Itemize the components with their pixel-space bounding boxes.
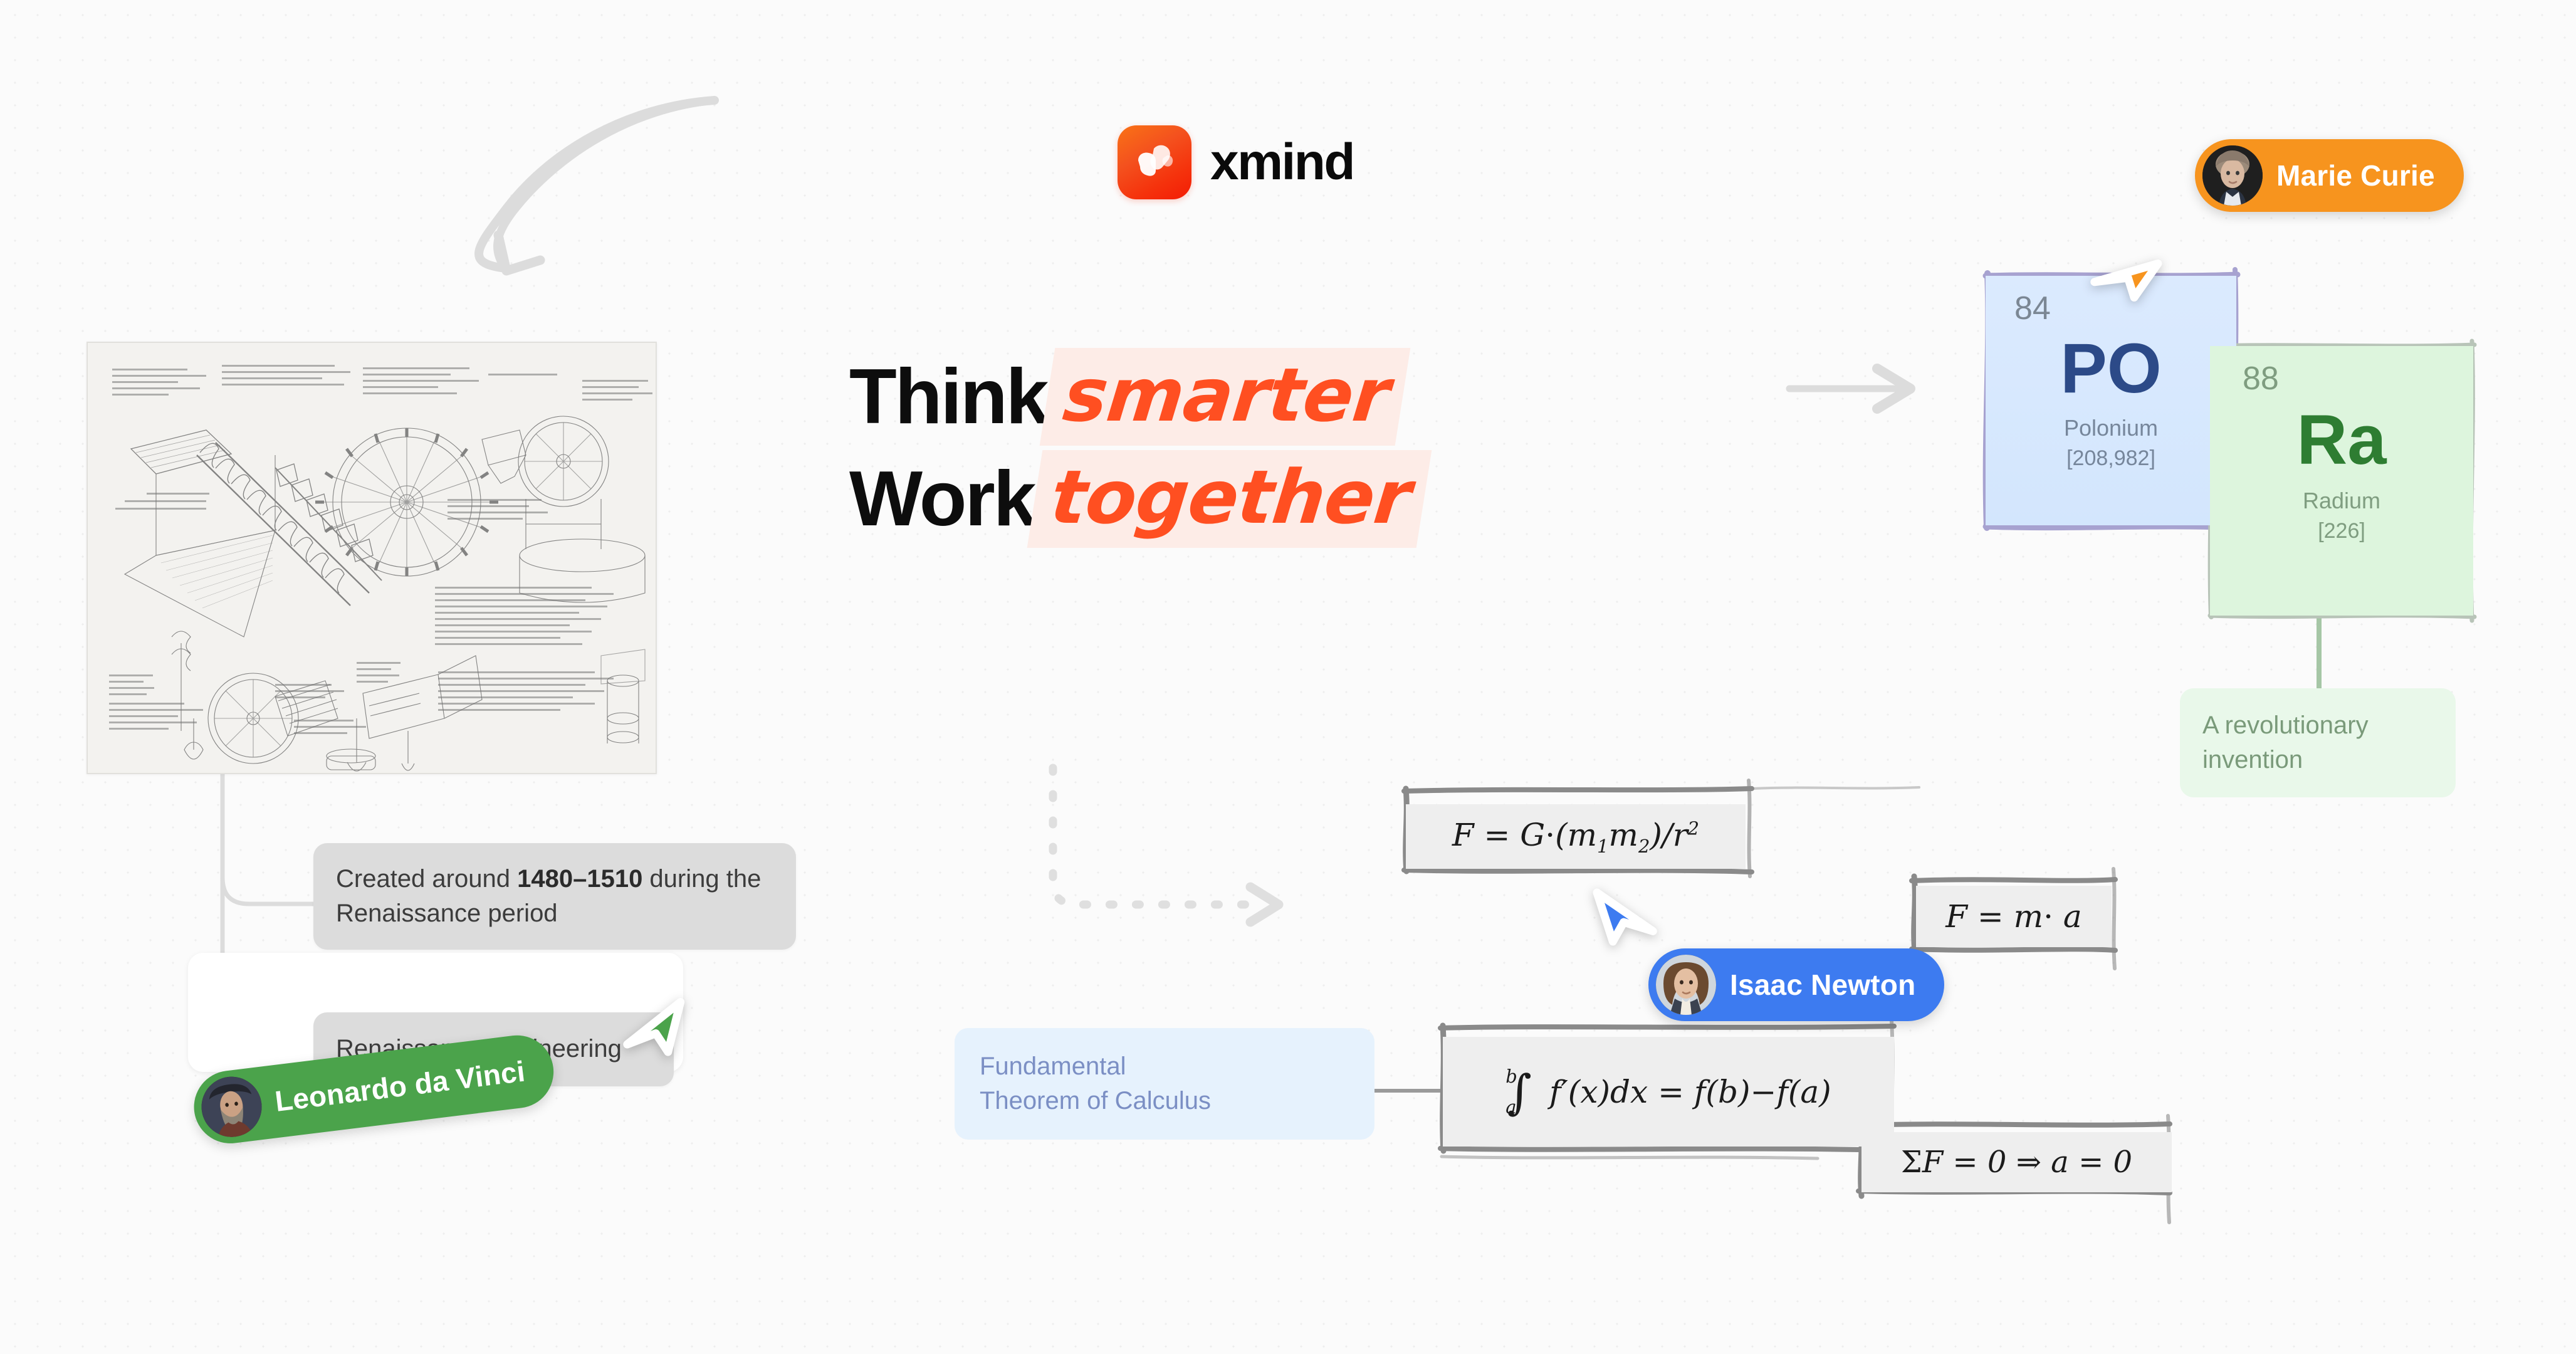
note-text-line-2: Theorem of Calculus — [980, 1084, 1349, 1118]
note-card-fundamental-theorem[interactable]: Fundamental Theorem of Calculus — [955, 1028, 1374, 1140]
element-name: Polonium — [1986, 415, 2236, 441]
note-text-line-1: Fundamental — [980, 1049, 1349, 1084]
headline-line-1: Think smarter — [849, 348, 1423, 445]
headline-word-together: together — [1027, 450, 1431, 548]
formula-static-equilibrium[interactable]: ΣF = 0 ⇒ a = 0 — [1861, 1132, 2172, 1192]
element-atomic-mass: [208,982] — [1986, 446, 2236, 471]
brand-name: xmind — [1210, 137, 1354, 188]
page-title: Think smarter Work together — [849, 348, 1423, 547]
collaborator-name: Leonardo da Vinci — [273, 1054, 527, 1118]
avatar — [1656, 955, 1716, 1015]
brand-logo[interactable]: xmind — [1118, 125, 1354, 199]
element-card-radium[interactable]: 88 Ra Radium [226] — [2210, 346, 2473, 616]
avatar — [2202, 145, 2263, 206]
element-symbol: Ra — [2210, 405, 2473, 475]
headline-line-2: Work together — [849, 450, 1423, 547]
formula-fundamental-theorem[interactable]: ba ∫ f′(x)dx = f(b)−f(a) — [1443, 1037, 1894, 1147]
avatar — [198, 1073, 265, 1140]
element-symbol: PO — [1986, 333, 2236, 404]
cursor-pointer-marie-curie — [2084, 239, 2165, 324]
note-text-prefix: Created around — [336, 865, 517, 893]
note-card-created-around[interactable]: Created around 1480–1510 during the Rena… — [313, 843, 796, 950]
canvas: xmind Think smarter Work together — [0, 0, 2576, 1354]
note-text-date-range: 1480–1510 — [517, 865, 642, 893]
collaborator-badge-isaac-newton[interactable]: Isaac Newton — [1648, 948, 1944, 1021]
headline-word-work: Work — [849, 460, 1035, 538]
formula-newton-second-law[interactable]: F = m· a — [1916, 886, 2112, 947]
xmind-logo-icon — [1118, 125, 1191, 199]
element-atomic-number: 88 — [2210, 362, 2473, 395]
collaborator-badge-marie-curie[interactable]: Marie Curie — [2195, 139, 2464, 212]
davinci-sketch-image[interactable] — [86, 342, 657, 774]
note-text: A revolutionary invention — [2202, 711, 2369, 774]
arrow-headline-to-polonium — [1789, 369, 1910, 409]
dashed-arrow-to-formulas — [1053, 768, 1279, 922]
element-atomic-mass: [226] — [2210, 519, 2473, 543]
collaborator-name: Marie Curie — [2276, 159, 2435, 192]
element-name: Radium — [2210, 488, 2473, 514]
curved-arrow-to-sketch — [479, 100, 715, 271]
collaborator-name: Isaac Newton — [1730, 968, 1915, 1002]
cursor-pointer-leonardo-da-vinci — [614, 987, 696, 1072]
note-card-revolutionary-invention[interactable]: A revolutionary invention — [2180, 688, 2456, 797]
formula-gravitation[interactable]: F = G·(m1m2)/r2 — [1406, 804, 1746, 869]
cursor-pointer-isaac-newton — [1586, 876, 1667, 961]
headline-word-smarter: smarter — [1039, 348, 1410, 446]
headline-word-think: Think — [849, 358, 1047, 436]
